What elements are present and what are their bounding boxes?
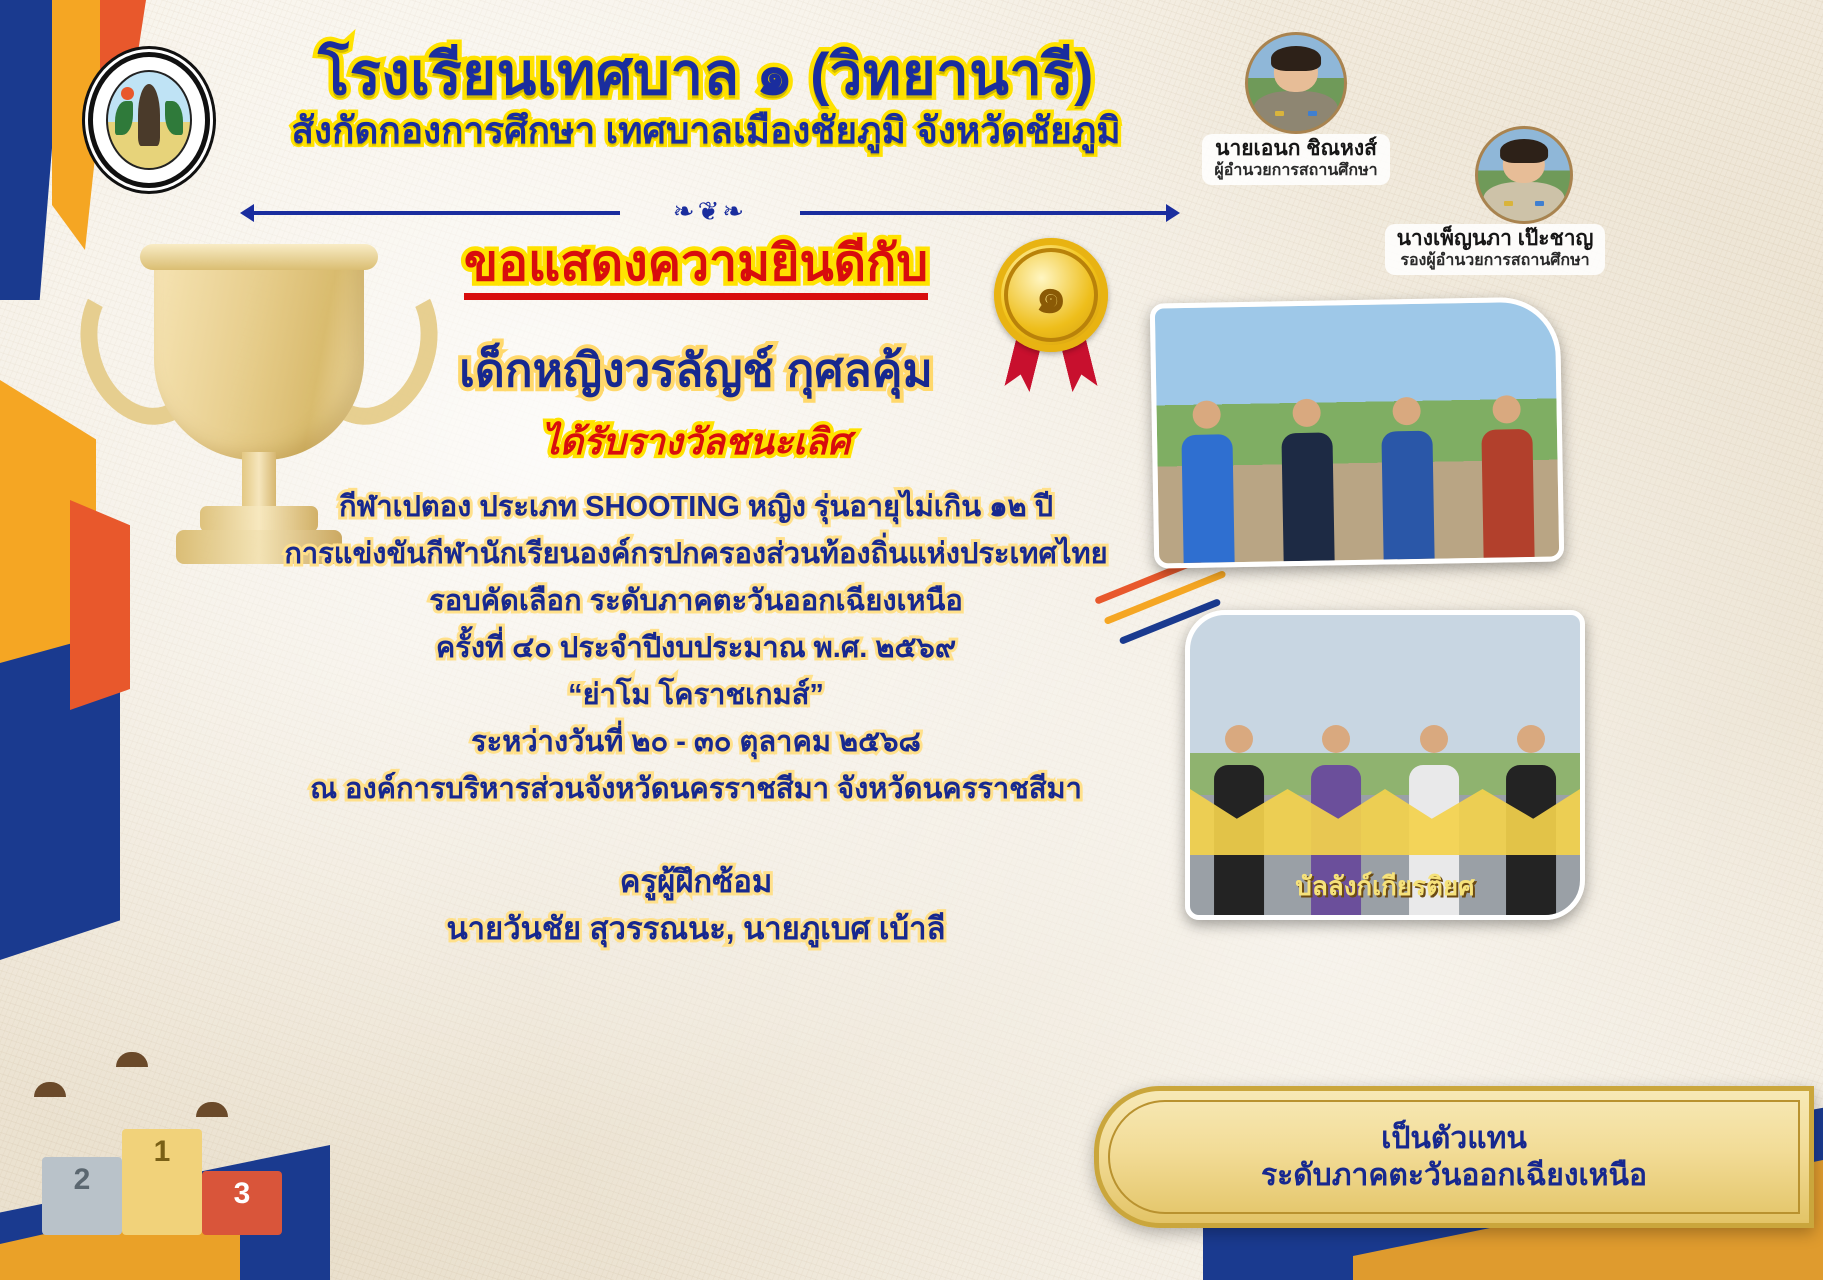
sun-icon <box>121 87 134 100</box>
stupa-icon <box>138 84 160 146</box>
divider-line-right <box>800 211 1170 215</box>
event-details: กีฬาเปตอง ประเภท SHOOTING หญิง รุ่นอายุไ… <box>206 484 1186 813</box>
person <box>1366 390 1449 560</box>
person <box>1266 392 1349 562</box>
photo-caption: บัลลังก์เกียรติยศ <box>1190 866 1580 907</box>
avatar <box>1475 126 1573 224</box>
palm-tree-icon <box>115 101 133 135</box>
main-content: ขอแสดงความยินดีกับ เด็กหญิงวรลัญช์ กุศลค… <box>206 236 1186 952</box>
people-group <box>1156 388 1559 563</box>
representative-line-2: ระดับภาคตะวันออกเฉียงเหนือ <box>1261 1157 1647 1195</box>
divider-line-left <box>250 211 620 215</box>
avatar <box>1245 32 1347 134</box>
badge-pin-icon <box>1504 201 1513 206</box>
badge-pin-icon <box>1275 111 1284 116</box>
detail-line: “ย่าโม โคราชเกมส์” <box>206 672 1186 719</box>
detail-line: ครั้งที่ ๔๐ ประจำปีงบประมาณ พ.ศ. ๒๕๖๙ <box>206 625 1186 672</box>
palm-tree-icon <box>165 101 183 135</box>
hair-icon <box>1500 139 1548 163</box>
uniform-icon <box>1484 182 1565 221</box>
detail-line: กีฬาเปตอง ประเภท SHOOTING หญิง รุ่นอายุไ… <box>206 484 1186 531</box>
ornamental-divider: ❧❦❧ <box>240 196 1180 230</box>
official-name: นางเพ็ญนภา เป๊ะชาญ <box>1397 227 1594 251</box>
school-affiliation: สังกัดกองการศึกษา เทศบาลเมืองชัยภูมิ จัง… <box>236 111 1176 152</box>
badge-pin-icon <box>1308 111 1317 116</box>
uniform-icon <box>1254 91 1338 131</box>
congratulations-heading: ขอแสดงความยินดีกับ <box>464 236 928 300</box>
official-nameplate: นางเพ็ญนภา เป๊ะชาญ รองผู้อำนวยการสถานศึก… <box>1385 224 1606 275</box>
person <box>1466 388 1549 558</box>
person <box>1166 394 1249 564</box>
student-name: เด็กหญิงวรลัญช์ กุศลคุ้ม <box>206 344 1186 397</box>
photo-caption-text: บัลลังก์เกียรติยศ <box>1295 866 1474 907</box>
school-seal-icon <box>88 52 210 188</box>
coach-block: ครูผู้ฝึกซ้อม นายวันชัย สุวรรณนะ, นายภูเ… <box>206 859 1186 952</box>
representative-line-1: เป็นตัวแทน <box>1381 1120 1527 1158</box>
school-title-block: โรงเรียนเทศบาล ๑ (วิทยานารี) สังกัดกองกา… <box>236 44 1176 152</box>
podium-place-third: 3 <box>202 1171 282 1235</box>
school-name: โรงเรียนเทศบาล ๑ (วิทยานารี) <box>236 44 1176 105</box>
seal-emblem <box>106 70 192 170</box>
podium-place-second: 2 <box>42 1157 122 1235</box>
podium-illustration: 2 1 3 <box>22 1015 322 1235</box>
hair-icon <box>1271 46 1321 71</box>
representative-badge: เป็นตัวแทน ระดับภาคตะวันออกเฉียงเหนือ <box>1094 1086 1814 1228</box>
divider-tip-right-icon <box>1166 204 1180 222</box>
detail-line: ณ องค์การบริหารส่วนจังหวัดนครราชสีมา จัง… <box>206 766 1186 813</box>
coach-names: นายวันชัย สุวรรณนะ, นายภูเบศ เบ้าลี <box>206 906 1186 953</box>
divider-ornament-icon: ❧❦❧ <box>673 196 747 226</box>
podium-place-first: 1 <box>122 1129 202 1235</box>
badge-pin-icon <box>1535 201 1544 206</box>
ribbon-orange <box>0 380 96 710</box>
detail-line: ระหว่างวันที่ ๒๐ - ๓๐ ตุลาคม ๒๕๖๘ <box>206 719 1186 766</box>
coach-label: ครูผู้ฝึกซ้อม <box>206 859 1186 906</box>
official-position: รองผู้อำนวยการสถานศึกษา <box>1397 251 1594 270</box>
medal-rank-number: ๑ <box>1035 256 1067 335</box>
poster-root: โรงเรียนเทศบาล ๑ (วิทยานารี) สังกัดกองกา… <box>0 0 1823 1280</box>
award-photo-outdoor <box>1150 296 1565 568</box>
award-photo-ceremony: บัลลังก์เกียรติยศ <box>1185 610 1585 920</box>
detail-line: การแข่งขันกีฬานักเรียนองค์กรปกครองส่วนท้… <box>206 531 1186 578</box>
official-deputy-director: นางเพ็ญนภา เป๊ะชาญ รองผู้อำนวยการสถานศึก… <box>1330 126 1660 275</box>
detail-line: รอบคัดเลือก ระดับภาคตะวันออกเฉียงเหนือ <box>206 578 1186 625</box>
ribbon-navy <box>0 630 120 960</box>
award-title: ได้รับรางวัลชนะเลิศ <box>206 421 1186 462</box>
